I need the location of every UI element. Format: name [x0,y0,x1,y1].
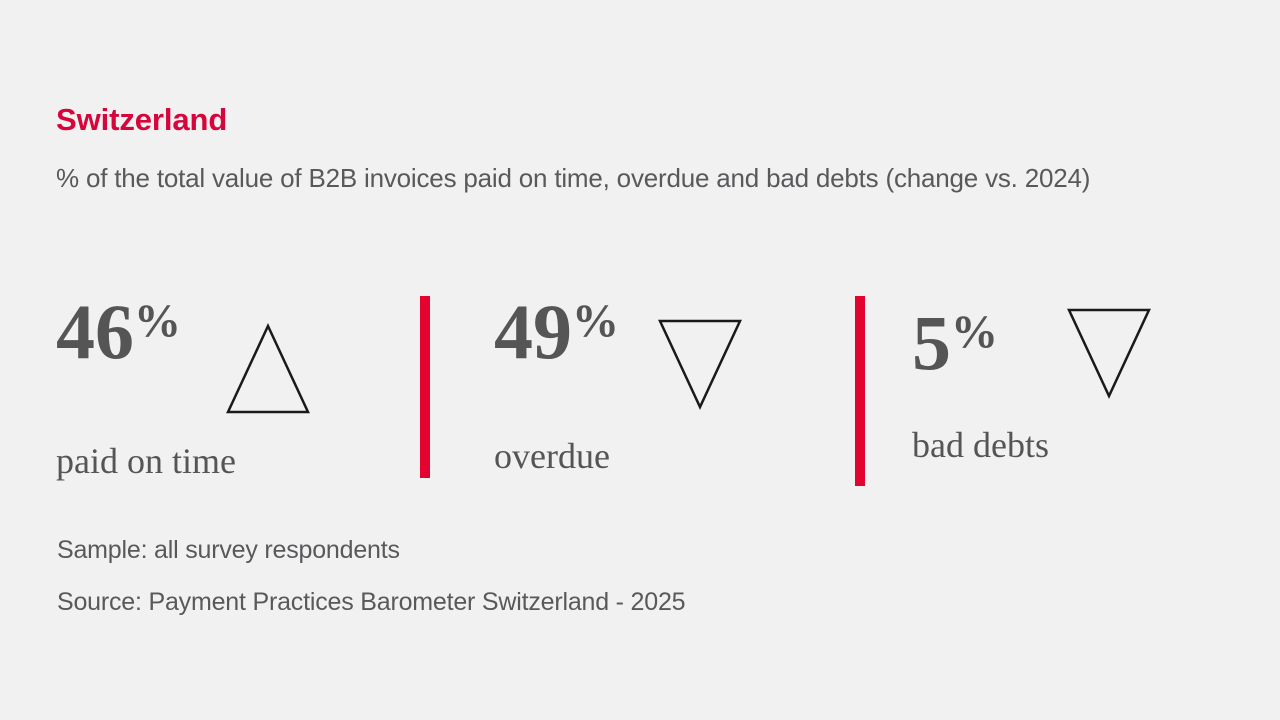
stat-unit: % [134,295,180,347]
triangle-up-icon [224,321,312,417]
triangle-down-icon [656,316,744,412]
stat-value-row: 5% [912,307,1153,401]
subtitle: % of the total value of B2B invoices pai… [56,163,1196,193]
sample-note: Sample: all survey respondents [57,538,685,563]
stat-value-overdue: 49% [494,296,618,368]
stat-label-paid-on-time: paid on time [56,443,312,479]
stat-label-bad-debts: bad debts [912,427,1153,463]
stat-number: 49 [494,288,572,375]
page-title: Switzerland [56,104,227,135]
footer-notes: Sample: all survey respondents Source: P… [57,538,685,615]
divider-bar-2 [855,296,865,486]
infographic-canvas: Switzerland % of the total value of B2B … [0,0,1280,720]
stat-unit: % [572,295,618,347]
stat-number: 46 [56,288,134,375]
stat-value-paid-on-time: 46% [56,296,180,368]
stat-block-overdue: 49% overdue [494,296,744,474]
divider-bar-1 [420,296,430,478]
stat-value-row: 46% [56,296,312,417]
stat-number: 5 [912,299,951,386]
stat-block-bad-debts: 5% bad debts [912,307,1153,463]
stat-label-overdue: overdue [494,438,744,474]
triangle-down-icon [1065,305,1153,401]
stats-band: 46% paid on time 49% overdue 5% [0,288,1280,488]
stat-value-bad-debts: 5% [912,307,997,379]
stat-unit: % [951,306,997,358]
stat-value-row: 49% [494,296,744,412]
source-note: Source: Payment Practices Barometer Swit… [57,590,685,615]
stat-block-paid-on-time: 46% paid on time [56,296,312,479]
